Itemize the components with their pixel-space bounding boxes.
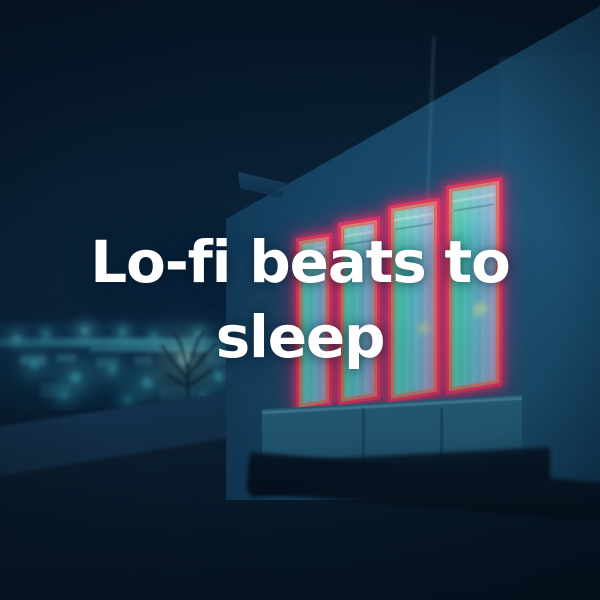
neon-frame-inner [301, 239, 327, 405]
distant-light [120, 330, 125, 335]
distant-light [82, 328, 88, 334]
distant-light [60, 392, 67, 399]
neon-window-2 [338, 217, 380, 406]
neon-frame-inner [451, 183, 497, 388]
distant-light [108, 366, 116, 374]
neon-window-3 [388, 198, 440, 402]
lofi-cover-image: Lo-fi beats tosleep [0, 0, 600, 600]
distant-light [30, 360, 39, 369]
neon-frame-inner [343, 222, 375, 399]
neon-window-4 [446, 177, 502, 394]
distant-light [124, 396, 131, 403]
distant-light [44, 332, 48, 336]
neon-window-1 [296, 233, 332, 411]
distant-light [70, 372, 81, 383]
distant-lit-window [56, 354, 76, 362]
neon-frame-inner [393, 204, 435, 397]
distant-light [14, 336, 19, 341]
